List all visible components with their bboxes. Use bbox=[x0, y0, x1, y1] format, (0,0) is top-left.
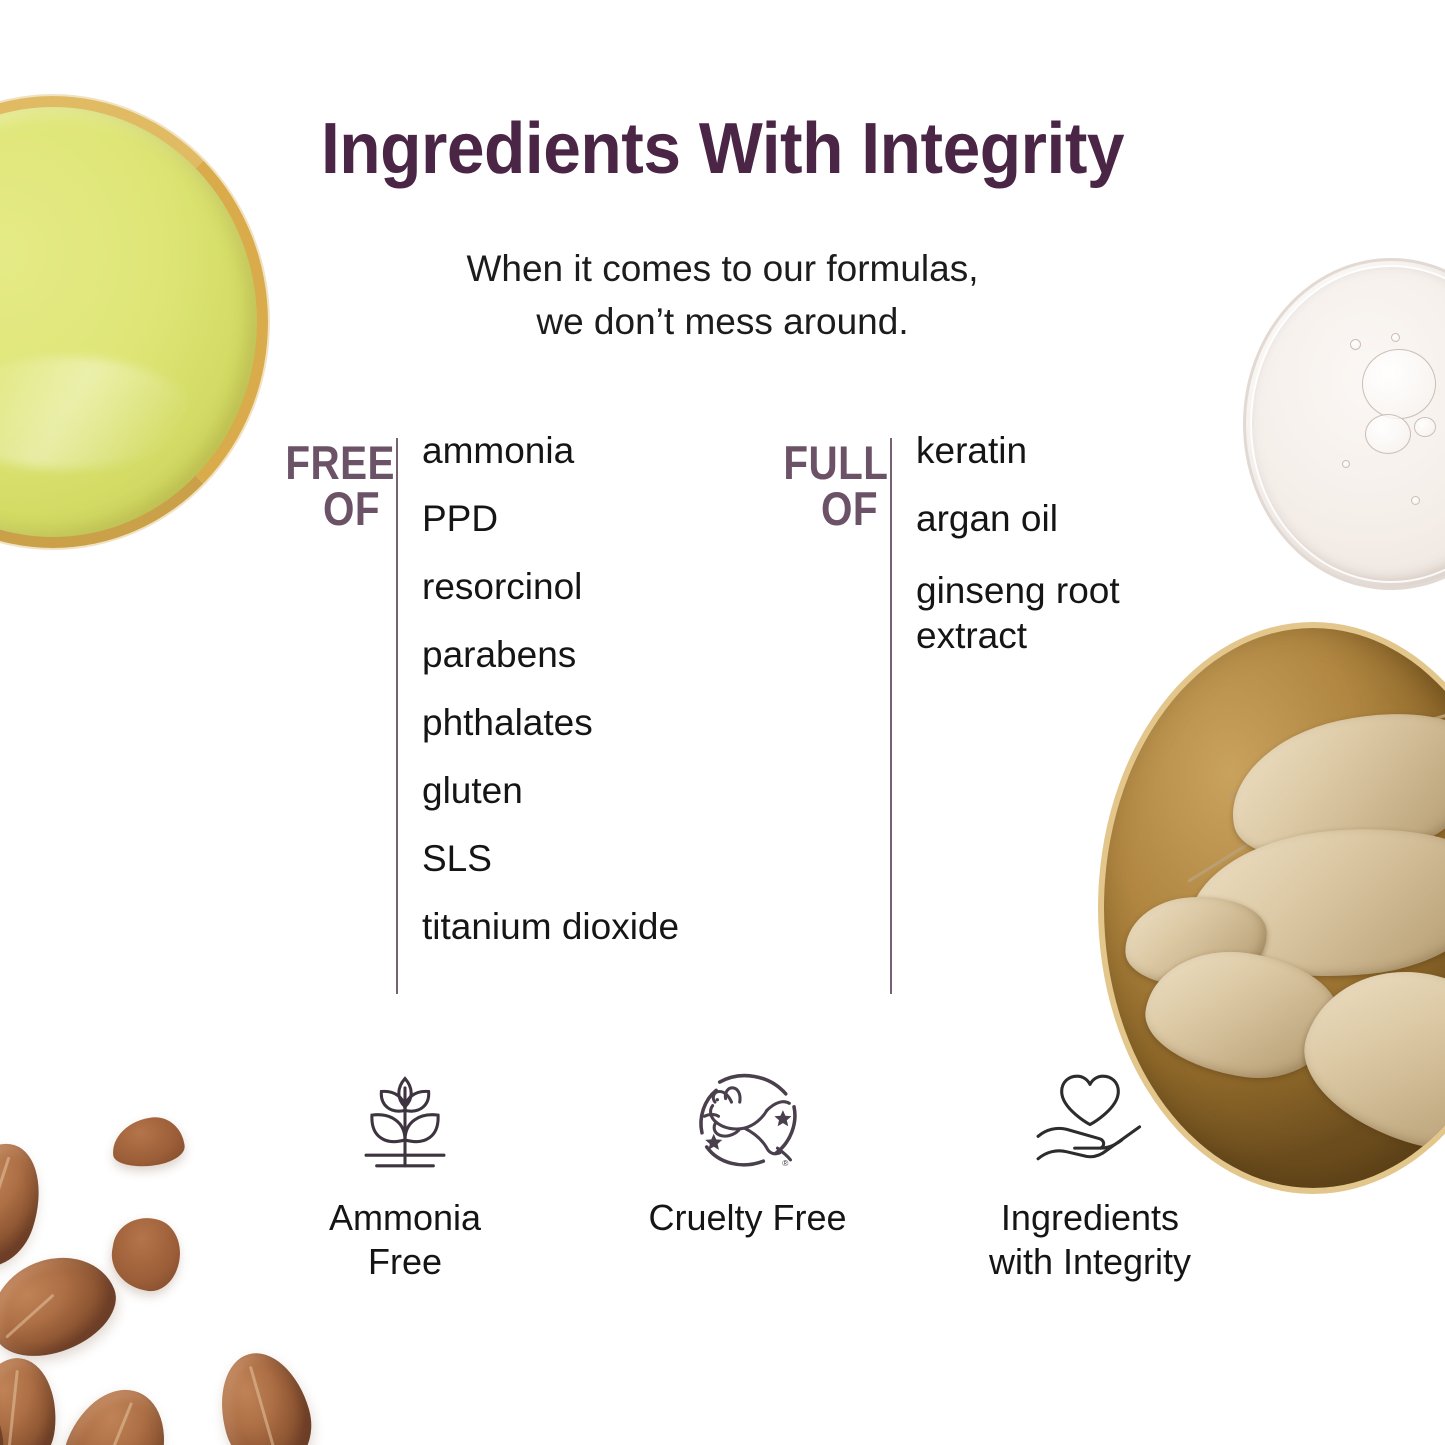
nut-seam bbox=[248, 1366, 277, 1445]
full-of-divider bbox=[890, 438, 892, 994]
list-item: ginseng root extract bbox=[916, 568, 1216, 658]
free-of-label-line-2: OF bbox=[285, 486, 380, 532]
list-item: keratin bbox=[916, 432, 1216, 469]
free-of-divider bbox=[396, 438, 398, 994]
nut-seam bbox=[5, 1293, 55, 1338]
argan-nut bbox=[0, 1354, 62, 1445]
full-of-label: FULL OF bbox=[783, 440, 878, 531]
badge-label-line-1: Cruelty Free bbox=[648, 1196, 846, 1240]
heart-in-hand-icon bbox=[1031, 1062, 1149, 1180]
free-of-label-line-1: FREE bbox=[285, 440, 380, 486]
badge-ingredients-with-integrity: Ingredients with Integrity bbox=[940, 1062, 1240, 1284]
list-item: titanium dioxide bbox=[422, 908, 772, 945]
page-title: Ingredients With Integrity bbox=[43, 108, 1401, 190]
free-of-column: FREE OF ammonia PPD resorcinol parabens … bbox=[258, 432, 778, 1002]
page-subtitle: When it comes to our formulas, we don’t … bbox=[0, 243, 1445, 348]
list-item: parabens bbox=[422, 636, 772, 673]
badge-label-line-2: with Integrity bbox=[989, 1240, 1191, 1284]
badge-label: Ammonia Free bbox=[329, 1196, 481, 1284]
full-of-column: FULL OF keratin argan oil ginseng root e… bbox=[760, 432, 1230, 1002]
full-of-label-line-2: OF bbox=[783, 486, 878, 532]
list-item: SLS bbox=[422, 840, 772, 877]
nut-seam bbox=[94, 1402, 133, 1445]
infographic-canvas: Ingredients With Integrity When it comes… bbox=[0, 0, 1445, 1445]
full-of-label-line-1: FULL bbox=[783, 440, 878, 486]
list-item: ammonia bbox=[422, 432, 772, 469]
list-item: phthalates bbox=[422, 704, 772, 741]
list-item: argan oil bbox=[916, 500, 1216, 537]
full-of-list: keratin argan oil ginseng root extract bbox=[916, 432, 1216, 689]
leaping-bunny-icon: ® bbox=[689, 1062, 807, 1180]
badge-label-line-2: Free bbox=[329, 1240, 481, 1284]
argan-shell-fragment bbox=[106, 1213, 185, 1296]
free-of-list: ammonia PPD resorcinol parabens phthalat… bbox=[422, 432, 772, 976]
argan-nut bbox=[207, 1342, 323, 1445]
registered-mark: ® bbox=[782, 1159, 788, 1168]
ingredient-columns: FREE OF ammonia PPD resorcinol parabens … bbox=[0, 432, 1445, 1002]
plant-leaf-icon bbox=[346, 1062, 464, 1180]
argan-nut bbox=[0, 1132, 55, 1278]
nut-seam bbox=[6, 1369, 19, 1445]
badge-label-line-1: Ingredients bbox=[989, 1196, 1191, 1240]
badge-cruelty-free: ® Cruelty Free bbox=[598, 1062, 898, 1284]
list-item: resorcinol bbox=[422, 568, 772, 605]
nut-seam bbox=[0, 1156, 10, 1253]
badge-label: Ingredients with Integrity bbox=[989, 1196, 1191, 1284]
argan-nut bbox=[49, 1374, 183, 1445]
badge-label-line-1: Ammonia bbox=[329, 1196, 481, 1240]
subtitle-line-2: we don’t mess around. bbox=[0, 296, 1445, 349]
badge-ammonia-free: Ammonia Free bbox=[255, 1062, 555, 1284]
free-of-label: FREE OF bbox=[285, 440, 380, 531]
argan-nut bbox=[0, 1381, 9, 1445]
argan-nut bbox=[0, 1239, 129, 1372]
certification-badges: Ammonia Free bbox=[255, 1062, 1240, 1284]
list-item: gluten bbox=[422, 772, 772, 809]
badge-label: Cruelty Free bbox=[648, 1196, 846, 1240]
list-item: PPD bbox=[422, 500, 772, 537]
gel-bubble bbox=[1362, 349, 1436, 419]
argan-shell-fragment bbox=[110, 1114, 187, 1169]
ginseng-rootlet bbox=[1321, 1020, 1445, 1071]
subtitle-line-1: When it comes to our formulas, bbox=[0, 243, 1445, 296]
